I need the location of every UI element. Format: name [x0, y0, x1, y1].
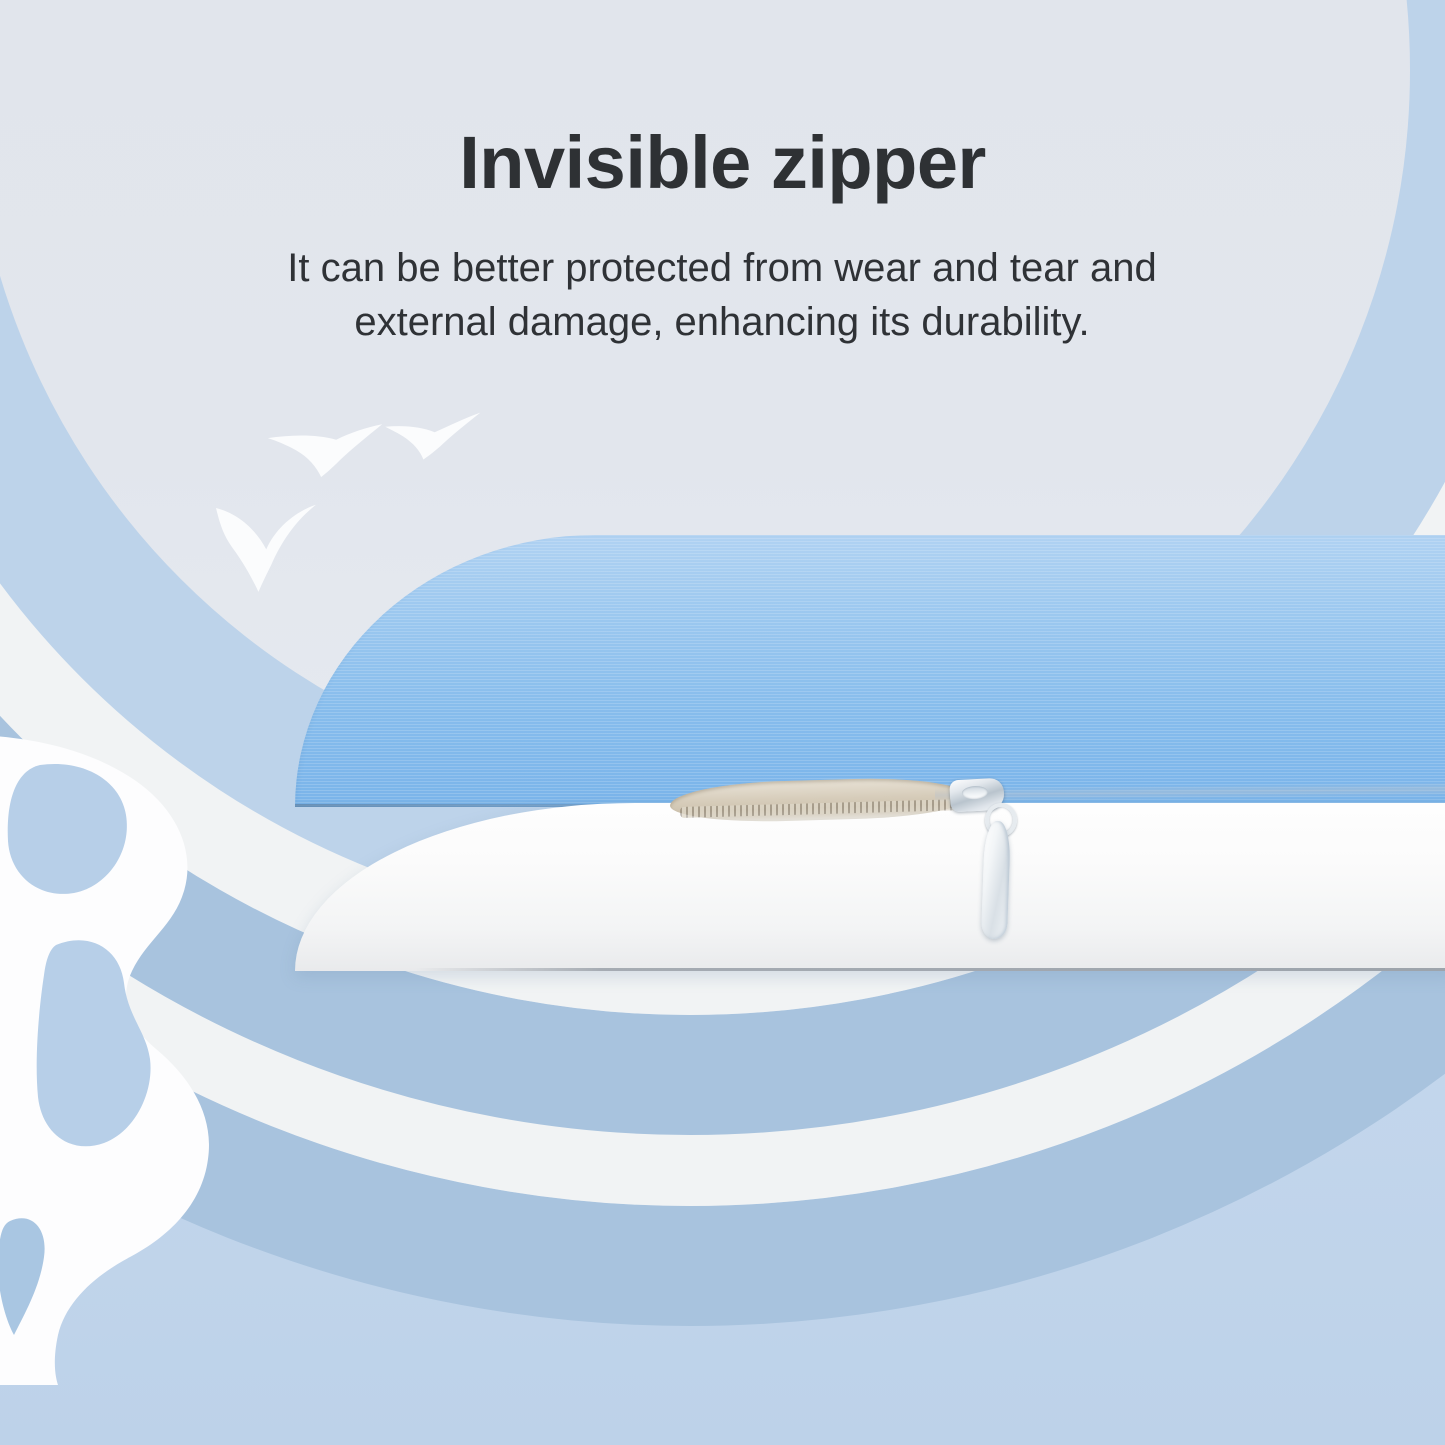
page-subtitle-line-1: It can be better protected from wear and…	[222, 242, 1222, 296]
page-subtitle: It can be better protected from wear and…	[222, 242, 1222, 349]
pillow-white-fabric-bottom	[295, 803, 1445, 971]
water-splash-foam	[0, 735, 270, 1385]
pillow-blue-fabric-top	[295, 535, 1445, 807]
product-feature-poster: Invisible zipper It can be better protec…	[0, 0, 1445, 1445]
zipper-pull-tab[interactable]	[981, 821, 1011, 940]
pillow-product	[295, 535, 1445, 985]
page-title: Invisible zipper	[0, 126, 1445, 200]
page-subtitle-line-2: external damage, enhancing its durabilit…	[222, 296, 1222, 350]
splash-hole-lower	[37, 940, 151, 1146]
water-splash-svg	[0, 735, 270, 1385]
